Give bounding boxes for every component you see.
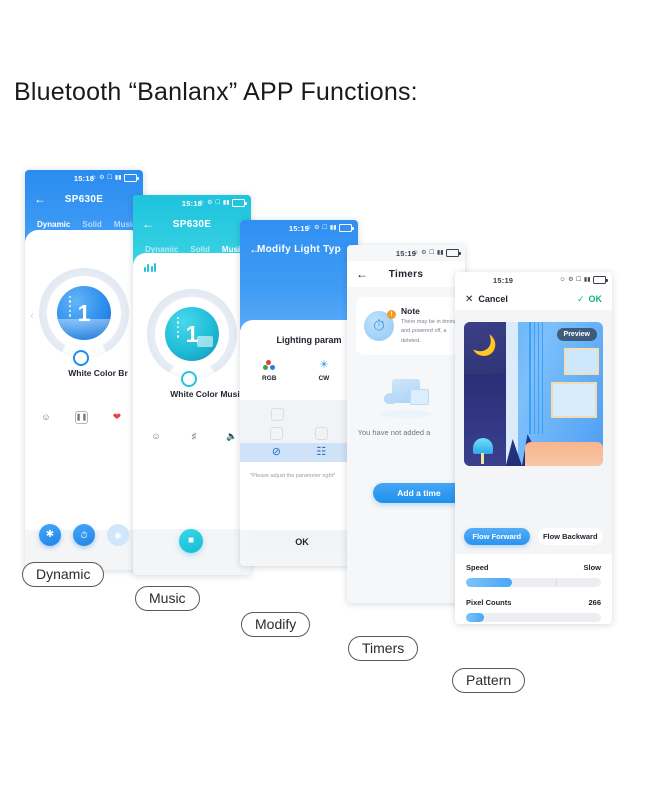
speed-button[interactable]: ⏱ <box>73 524 95 546</box>
more-button[interactable]: ◉ <box>107 524 129 546</box>
speed-icon: ⏱ <box>80 531 87 540</box>
more-icon: ◉ <box>114 531 122 540</box>
ic-chip-icon[interactable]: ☷ <box>316 447 326 458</box>
person-icon: ☺ <box>412 250 418 256</box>
flow-forward-button[interactable]: Flow Forward <box>464 528 530 545</box>
phone-card-music: 15:18 ☺ ⚙ ☐ ▮▮ ← SP630E Dynamic Solid Mu… <box>133 195 251 575</box>
preview-badge[interactable]: Preview <box>557 328 597 341</box>
bluetooth-icon: ⚙ <box>421 250 426 256</box>
parameter-note: *Please adjust the parameter right* <box>250 472 358 481</box>
battery-icon <box>446 249 459 257</box>
battery-icon <box>339 224 352 232</box>
ok-label: OK <box>589 294 603 304</box>
slider-speed-track[interactable] <box>466 578 601 587</box>
poster-root: Bluetooth “Banlanx” APP Functions: 15:18… <box>0 0 650 800</box>
signal-icon: ▮▮ <box>115 175 122 181</box>
slider-speed-value: Slow <box>583 563 601 572</box>
person-icon: ☺ <box>559 277 565 283</box>
option-row: RGB ☀ CW <box>262 360 329 382</box>
back-icon[interactable]: ← <box>249 243 261 255</box>
phone-card-pattern: 15:19 ☺ ⚙ ☐ ▮▮ ✕ Cancel ✓ OK 🌙 <box>455 272 612 624</box>
brightness-icon: ✱ <box>46 530 54 540</box>
scene-selected-dot[interactable] <box>73 350 89 366</box>
status-icons: ☺ ⚙ ☐ ▮▮ <box>305 224 352 232</box>
status-time: 15:19 <box>493 276 513 285</box>
app-bar: ← SP630E <box>133 211 251 237</box>
signal-icon: ▮▮ <box>584 277 591 283</box>
page-title: Bluetooth “Banlanx” APP Functions: <box>14 78 418 107</box>
app-bar: ← Modify Light Typ <box>240 236 358 262</box>
app-bar: ← SP630E <box>25 186 143 212</box>
content-sheet: 1 ‹ › White Color Br ☺ ❚❚ ❤ <box>25 230 143 530</box>
app-bar: ← Timers <box>347 261 465 287</box>
smiley-icon[interactable]: ☺ <box>39 410 53 424</box>
scene-action-row: ☺ ♯ 🔈 <box>149 429 239 443</box>
slider-pixel-value: 266 <box>588 598 601 607</box>
scene-action-row: ☺ ❚❚ ❤ <box>39 410 124 424</box>
status-bar: 15:19 ☺ ⚙ ☐ ▮▮ <box>455 272 612 288</box>
note-card: ⏱ ! Note There may be in timing, and pow… <box>356 297 465 355</box>
sim-icon: ☐ <box>215 200 220 206</box>
label-dynamic: Dynamic <box>22 562 104 587</box>
add-timer-label: Add a time <box>397 488 440 498</box>
phone-card-dynamic: 15:18 ☺ ⚙ ☐ ▮▮ ← SP630E Dynamic Solid Mu… <box>25 170 143 570</box>
signal-icon: ▮▮ <box>223 200 230 206</box>
slider-pixel-fill <box>466 613 484 622</box>
bluetooth-icon: ⚙ <box>207 200 212 206</box>
sim-icon: ☐ <box>107 175 112 181</box>
scene-dots <box>69 296 71 317</box>
scene-label: White Color Br <box>25 368 143 378</box>
signal-icon: ▮▮ <box>437 250 444 256</box>
label-music: Music <box>135 586 200 611</box>
rgb-dots-icon <box>263 360 276 371</box>
pattern-preview[interactable]: 🌙 Preview <box>464 322 603 466</box>
pattern-appbar: ✕ Cancel ✓ OK <box>455 288 612 310</box>
label-modify: Modify <box>241 612 310 637</box>
mic-mode-icon: ■ <box>188 536 194 546</box>
prev-scene-icon[interactable]: ‹ <box>30 308 34 322</box>
empty-state: You have not added a <box>347 375 465 437</box>
person-icon: ☺ <box>198 200 204 206</box>
alarm-clock-icon: ⏱ ! <box>364 311 394 341</box>
back-icon[interactable]: ← <box>142 218 154 230</box>
person-icon: ☺ <box>305 225 311 231</box>
slider-speed-fill <box>466 578 512 587</box>
card-title: Lighting param <box>240 335 358 345</box>
pause-icon[interactable]: ❚❚ <box>75 411 88 424</box>
status-bar: 15:18 ☺ ⚙ ☐ ▮▮ <box>133 195 251 211</box>
slider-panel: Speed Slow Pixel Counts 266 <box>455 554 612 624</box>
label-timers: Timers <box>348 636 418 661</box>
add-timer-button[interactable]: Add a time <box>373 483 465 503</box>
person-icon: ☺ <box>90 175 96 181</box>
check-icon: ✓ <box>577 294 585 305</box>
option-rgb[interactable]: RGB <box>262 360 276 382</box>
icon-grid: ⊘ ☷ <box>240 400 358 462</box>
battery-icon <box>593 276 606 284</box>
no-entry-icon[interactable]: ⊘ <box>272 447 281 458</box>
sun-icon: ☀ <box>318 360 329 371</box>
slider-pixel-label: Pixel Counts <box>466 598 511 607</box>
battery-icon <box>232 199 245 207</box>
slider-pixel-counts: Pixel Counts 266 <box>466 598 601 622</box>
option-cw-label: CW <box>318 375 329 382</box>
moon-icon: 🌙 <box>472 336 497 356</box>
back-icon[interactable]: ← <box>356 268 368 280</box>
signal-icon: ▮▮ <box>330 225 337 231</box>
status-bar: 15:19 ☺ ⚙ ☐ ▮▮ <box>240 220 358 236</box>
flow-backward-button[interactable]: Flow Backward <box>538 528 604 545</box>
label-pattern: Pattern <box>452 668 525 693</box>
mic-mode-button[interactable]: ■ <box>179 529 203 553</box>
battery-icon <box>124 174 137 182</box>
status-icons: ☺ ⚙ ☐ ▮▮ <box>559 276 606 284</box>
smiley-icon[interactable]: ☺ <box>149 429 163 443</box>
status-bar: 15:18 ☺ ⚙ ☐ ▮▮ <box>25 170 143 186</box>
sim-icon: ☐ <box>429 250 434 256</box>
scene-dots <box>177 317 179 338</box>
sim-icon: ☐ <box>576 277 581 283</box>
chip-icon[interactable] <box>270 427 283 440</box>
brightness-button[interactable]: ✱ <box>39 524 61 546</box>
sim-icon: ☐ <box>322 225 327 231</box>
bluetooth-icon: ⚙ <box>314 225 319 231</box>
status-icons: ☺ ⚙ ☐ ▮▮ <box>412 249 459 257</box>
ok-button[interactable]: ✓ OK <box>577 294 602 305</box>
status-icons: ☺ ⚙ ☐ ▮▮ <box>90 174 137 182</box>
phone-card-timers: 15:19 ☺ ⚙ ☐ ▮▮ ← Timers ⏱ ! Note There m… <box>347 245 465 603</box>
scene-thumbnail[interactable]: 1 <box>57 286 111 340</box>
content-sheet: 1 › White Color Musi ☺ ♯ 🔈 <box>133 253 251 529</box>
option-rgb-label: RGB <box>262 375 276 382</box>
scene-number: 1 <box>78 302 91 325</box>
lamp-icon <box>473 438 493 454</box>
content-sheet: Lighting param RGB ☀ CW <box>240 320 358 530</box>
status-bar: 15:19 ☺ ⚙ ☐ ▮▮ <box>347 245 465 261</box>
cancel-button[interactable]: ✕ Cancel <box>465 294 508 305</box>
music-note-icon[interactable]: ♯ <box>187 429 201 443</box>
equalizer-icon <box>144 263 156 272</box>
scene-thumbnail[interactable]: 1 <box>165 307 219 361</box>
slider-speed: Speed Slow <box>466 563 601 587</box>
ok-button-label: OK <box>295 537 309 547</box>
back-icon[interactable]: ← <box>34 193 46 205</box>
heart-icon[interactable]: ❤ <box>110 410 124 424</box>
ok-button[interactable]: OK <box>248 532 358 552</box>
bluetooth-icon: ⚙ <box>568 277 573 283</box>
status-icons: ☺ ⚙ ☐ ▮▮ <box>198 199 245 207</box>
close-icon: ✕ <box>465 294 473 305</box>
cancel-label: Cancel <box>478 294 508 304</box>
scene-number: 1 <box>186 323 199 346</box>
bluetooth-icon: ⚙ <box>99 175 104 181</box>
scene-selected-dot[interactable] <box>181 371 197 387</box>
empty-text: You have not added a <box>347 428 453 437</box>
option-cw[interactable]: ☀ CW <box>318 360 329 382</box>
slider-pixel-track[interactable] <box>466 613 601 622</box>
chip-small-icon[interactable] <box>271 408 284 421</box>
scene-label: White Color Musi <box>133 389 251 399</box>
slider-speed-label: Speed <box>466 563 489 572</box>
empty-illustration-icon <box>378 375 434 419</box>
chip-icon[interactable] <box>315 427 328 440</box>
direction-row: Flow Forward Flow Backward <box>464 528 603 545</box>
microphone-icon[interactable]: 🔈 <box>225 429 239 443</box>
phone-card-modify: 15:19 ☺ ⚙ ☐ ▮▮ ← Modify Light Typ Parame… <box>240 220 358 566</box>
